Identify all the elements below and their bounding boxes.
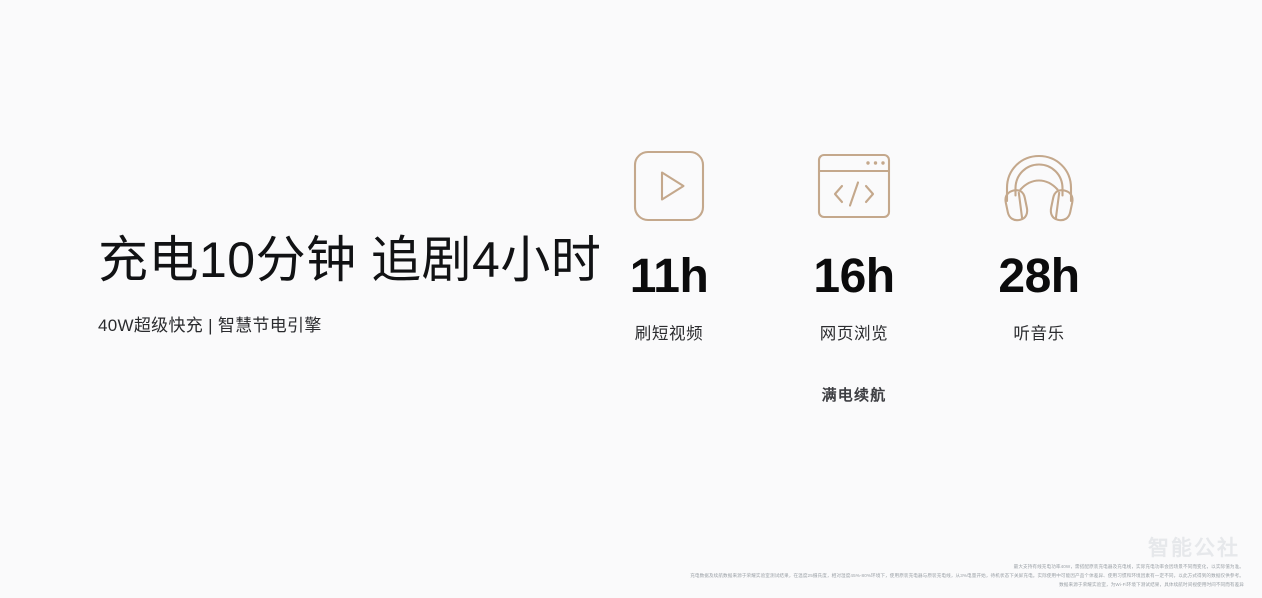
stat-item-video: 11h 刷短视频 bbox=[589, 140, 749, 344]
stats-row: 11h 刷短视频 16h bbox=[589, 140, 1119, 344]
disclaimer-line-1: 最大支持有线充电功率40W，需搭配原装充电器及充电线，实际充电功率会因场景不同而… bbox=[0, 563, 1244, 572]
stat-item-music: 28h 听音乐 bbox=[959, 140, 1119, 344]
hero-text-block: 充电10分钟 追剧4小时 40W超级快充 | 智慧节电引擎 bbox=[98, 231, 568, 336]
stat-label: 听音乐 bbox=[1013, 320, 1064, 344]
page-title: 充电10分钟 追剧4小时 bbox=[98, 231, 568, 289]
stat-label: 刷短视频 bbox=[635, 320, 703, 344]
hero-subtitle: 40W超级快充 | 智慧节电引擎 bbox=[98, 311, 568, 336]
headphones-icon bbox=[996, 140, 1082, 232]
disclaimer-line-3: 数据来源于荣耀实验室，为Wi-Fi环境下测试结果，具体续航时间视使用时间不同而有… bbox=[0, 581, 1244, 590]
battery-stats-block: 11h 刷短视频 16h bbox=[589, 140, 1119, 405]
play-video-icon bbox=[631, 140, 707, 232]
disclaimer-block: 最大支持有线充电功率40W，需搭配原装充电器及充电线，实际充电功率会因场景不同而… bbox=[0, 563, 1244, 590]
disclaimer-line-2: 充电数据及续航数据来源于荣耀实验室测试结果，在温度25摄氏度，相对湿度45%-8… bbox=[0, 572, 1244, 581]
stats-caption: 满电续航 bbox=[589, 384, 1119, 405]
stat-value: 11h bbox=[630, 253, 709, 301]
slide-canvas: 充电10分钟 追剧4小时 40W超级快充 | 智慧节电引擎 11h 刷短视频 bbox=[0, 0, 1262, 598]
stat-item-browsing: 16h 网页浏览 bbox=[774, 140, 934, 344]
watermark: 智能公社 bbox=[1148, 532, 1240, 562]
stat-value: 16h bbox=[813, 253, 894, 301]
stat-label: 网页浏览 bbox=[820, 320, 888, 344]
stat-value: 28h bbox=[998, 253, 1079, 301]
browser-code-icon bbox=[814, 140, 894, 232]
